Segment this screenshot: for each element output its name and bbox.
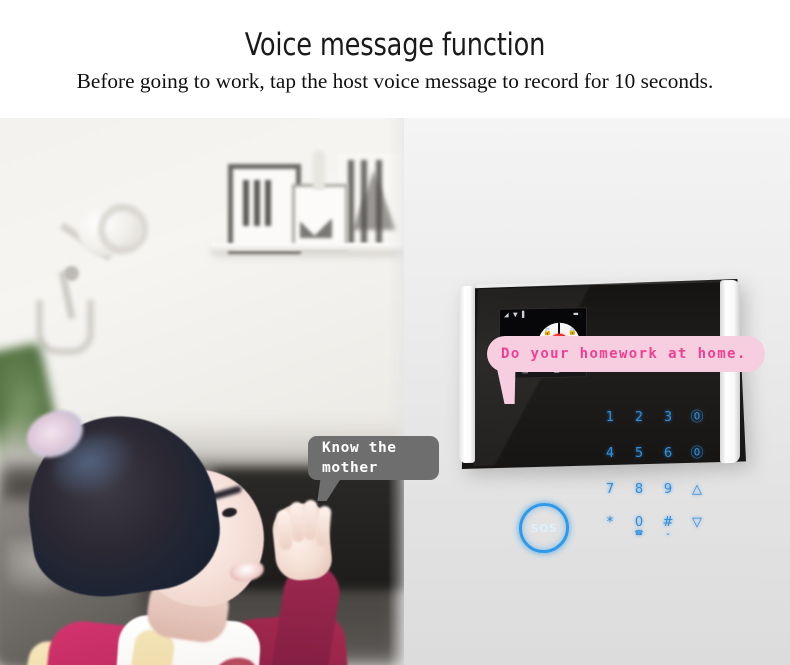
page-subtitle: Before going to work, tap the host voice… <box>4 68 786 94</box>
battery-icon: ▌ <box>522 311 527 319</box>
key-1[interactable]: 1 <box>596 410 624 425</box>
lifestyle-photo <box>0 118 404 665</box>
key-3[interactable]: 3 <box>654 410 682 425</box>
key-4[interactable]: 4 <box>596 446 624 461</box>
speech-bubble-child-line2: mother <box>322 458 439 478</box>
unlock-icon: 🔓 <box>543 329 552 336</box>
wifi-icon: ▼ <box>513 311 518 319</box>
speech-bubble-tail-icon <box>317 479 340 501</box>
key-5[interactable]: 5 <box>625 446 653 461</box>
key-2[interactable]: 2 <box>625 410 653 425</box>
speech-bubble-device: Do your homework at home. <box>487 336 765 372</box>
key-label: 5 <box>635 446 643 461</box>
photo-lamp-base <box>36 300 94 355</box>
down-triangle-icon[interactable]: ▽ <box>683 515 711 530</box>
device-bezel-left <box>459 286 475 463</box>
photo-edge-fade <box>388 118 404 665</box>
key-label: 0 <box>635 515 643 530</box>
key-label: 6 <box>664 446 672 461</box>
page-root: Voice message function Before going to w… <box>0 0 790 665</box>
speech-bubble-child: Know the mother <box>308 436 439 480</box>
photo-vase <box>313 150 325 190</box>
key-0[interactable]: 0 ☎ <box>625 515 653 537</box>
key-label: 4 <box>606 446 614 461</box>
key-label: 7 <box>606 482 614 497</box>
speech-bubble-child-line1: Know the <box>322 438 439 458</box>
unlock-icon[interactable]: ⓪ <box>683 410 711 425</box>
speech-bubble-device-text: Do your homework at home. <box>501 346 747 362</box>
key-label: 8 <box>635 482 643 497</box>
key-hash[interactable]: # ⌄ <box>654 515 682 537</box>
sos-button[interactable]: SOS <box>519 503 569 554</box>
key-6[interactable]: 6 <box>654 446 682 461</box>
key-label: 1 <box>606 410 614 425</box>
key-star[interactable]: * <box>596 515 624 530</box>
lcd-status-bar: ◢ ▼ ▌ ▬ <box>500 309 586 321</box>
lock-icon: 🔒 <box>568 328 577 335</box>
key-label: ▽ <box>692 515 702 530</box>
key-label: 9 <box>664 482 672 497</box>
key-label: # <box>663 515 674 530</box>
header: Voice message function Before going to w… <box>0 0 790 118</box>
photo-lamp-joint <box>64 266 79 281</box>
lock-icon[interactable]: ⓪ <box>683 446 711 461</box>
page-title: Voice message function <box>32 27 759 63</box>
key-label: △ <box>692 482 702 497</box>
key-9[interactable]: 9 <box>654 482 682 497</box>
key-label: ⓪ <box>690 410 703 425</box>
sd-card-icon: ▬ <box>573 310 579 318</box>
up-triangle-icon[interactable]: △ <box>683 482 711 497</box>
key-7[interactable]: 7 <box>596 482 624 497</box>
photo-picture-frame-mid-art <box>300 204 332 238</box>
scene: Know the mother Do your homework at home… <box>0 118 790 665</box>
photo-shelf <box>212 243 404 251</box>
photo-picture-frame-left-art <box>240 180 278 226</box>
key-label: * <box>607 515 614 530</box>
photo-child-finger <box>290 502 305 543</box>
key-label: 2 <box>635 410 643 425</box>
photo-lamp-ring <box>98 204 148 254</box>
phone-icon: ☎ <box>625 530 653 537</box>
chevron-down-icon: ⌄ <box>654 530 682 537</box>
key-label: 3 <box>664 410 672 425</box>
signal-icon: ◢ <box>504 312 509 320</box>
key-8[interactable]: 8 <box>625 482 653 497</box>
key-label: ⓪ <box>690 446 703 461</box>
device-keypad[interactable]: 1 2 3 ⓪ 4 5 6 ⓪ 7 8 9 △ * 0 ☎ # ⌄ ▽ <box>596 410 716 545</box>
